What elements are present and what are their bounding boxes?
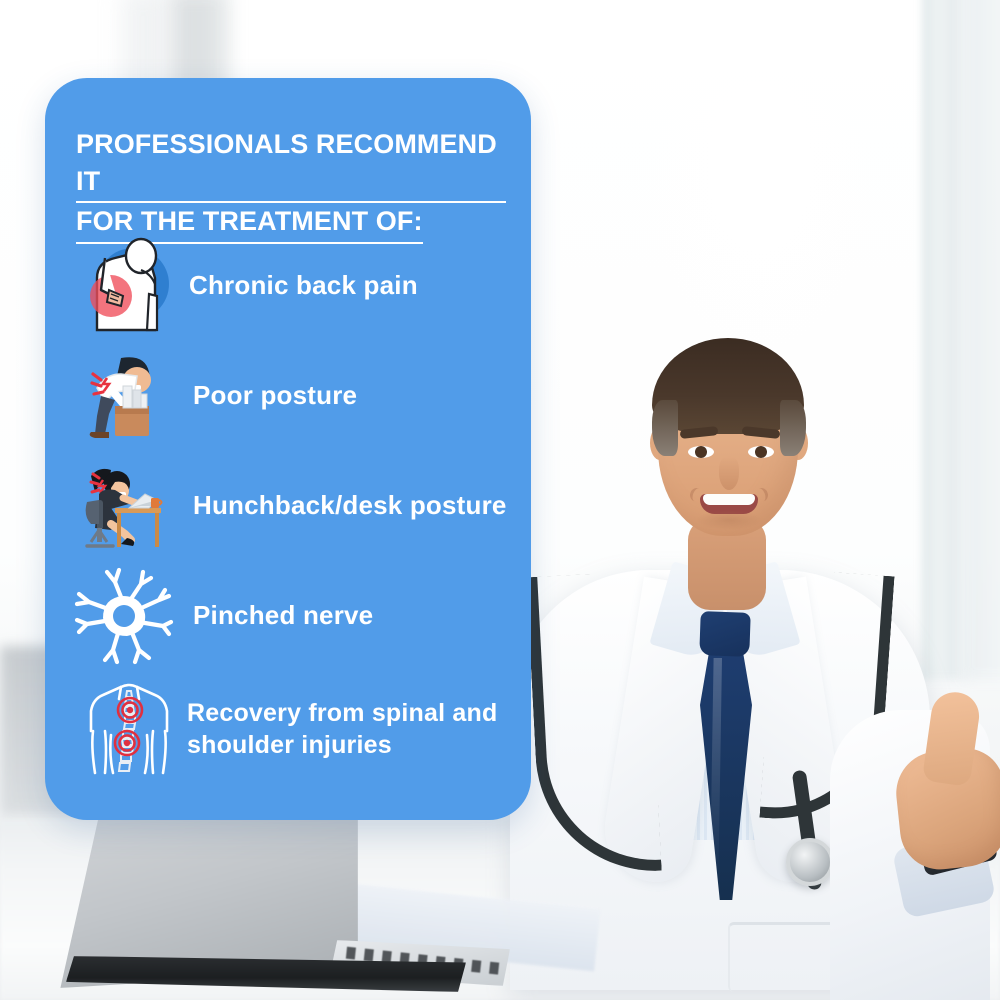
stethoscope-chestpiece <box>786 838 834 886</box>
desk-posture-icon <box>71 454 175 558</box>
eye-right <box>748 446 774 458</box>
necktie-knot <box>699 611 751 657</box>
list-item-label: Recovery from spinal and shoulder injuri… <box>187 697 513 761</box>
list-item: Hunchback/desk posture <box>45 450 531 562</box>
list-item: Pinched nerve <box>45 562 531 670</box>
eye-left <box>688 446 714 458</box>
poster-canvas: PROFESSIONALS RECOMMEND IT FOR THE TREAT… <box>0 0 1000 1000</box>
list-item-label: Chronic back pain <box>189 269 418 302</box>
hair-temple-left <box>652 400 678 456</box>
pupil-right <box>755 446 767 458</box>
chin-shadow <box>696 510 762 530</box>
hair-temple-right <box>780 400 806 456</box>
back-pain-icon <box>71 234 175 338</box>
spine-injury-icon <box>77 677 181 781</box>
list-item-label: Hunchback/desk posture <box>193 489 507 522</box>
treatment-list: Chronic back pain <box>45 230 531 788</box>
benefits-card: PROFESSIONALS RECOMMEND IT FOR THE TREAT… <box>45 78 531 820</box>
doctor-figure <box>500 150 1000 950</box>
list-item: Poor posture <box>45 342 531 450</box>
list-item: Chronic back pain <box>45 230 531 342</box>
pupil-left <box>695 446 707 458</box>
list-item: Recovery from spinal and shoulder injuri… <box>45 670 531 788</box>
page-title: PROFESSIONALS RECOMMEND IT FOR THE TREAT… <box>76 126 506 244</box>
list-item-label: Poor posture <box>193 379 357 412</box>
nose <box>719 456 739 490</box>
neuron-icon <box>71 564 175 668</box>
teeth <box>703 494 755 505</box>
lifting-posture-icon <box>71 344 175 448</box>
list-item-label: Pinched nerve <box>193 599 373 632</box>
headline-line-1: PROFESSIONALS RECOMMEND IT <box>76 126 506 203</box>
